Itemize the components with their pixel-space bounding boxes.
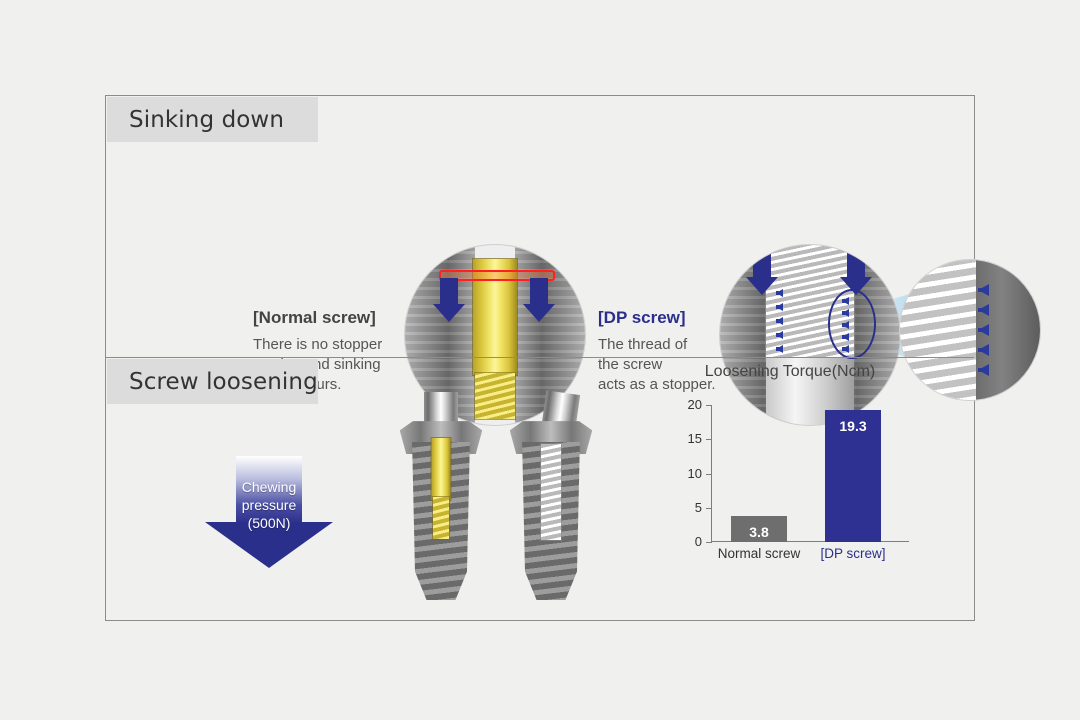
thread-force-micro-arrow [776,317,783,325]
chewing-pressure-label: Chewing pressure (500N) [205,478,333,532]
loosening-torque-chart: Loosening Torque(Ncm) 051015203.8Normal … [660,363,920,608]
chart-y-tick [706,542,712,543]
normal-screw-label: [Normal screw] [253,308,413,328]
chart-y-tick [706,508,712,509]
chart-bar: 3.8 [731,516,787,542]
pressure-arrow-right [840,251,872,295]
thread-force-micro-arrow [978,344,989,356]
thread-force-micro-arrow [776,331,783,339]
arrow-head [433,304,465,322]
chart-y-tick-label: 5 [676,500,702,515]
thread-force-micro-arrow [842,297,849,305]
section-header-sinking-down: Sinking down [107,97,318,142]
chart-y-tick-label: 10 [676,466,702,481]
dp-screw-implant-photo [508,392,594,600]
arrow-shaft [753,251,771,277]
dp-screw-thread-magnified-figure [899,259,1041,401]
pressure-arrow-left [433,278,465,322]
thread-force-micro-arrow [978,324,989,336]
arrow-shaft [440,278,458,304]
thread-force-micro-arrow [776,345,783,353]
thread-force-micro-arrow [842,321,849,329]
thread-force-micro-arrow [978,364,989,376]
chart-y-tick-label: 20 [676,397,702,412]
chart-y-tick [706,474,712,475]
gold-screw-shaft [432,438,451,500]
chewing-pressure-arrow: Chewing pressure (500N) [205,456,333,568]
pressure-arrow-right [523,278,555,322]
thread-force-micro-arrow [842,309,849,317]
section-divider [106,357,974,358]
thread-force-micro-arrow [776,289,783,297]
arrow-shaft [530,278,548,304]
section-header-screw-loosening: Screw loosening [107,359,318,404]
chart-y-tick [706,439,712,440]
chart-title: Loosening Torque(Ncm) [660,363,920,381]
arrow-head [523,304,555,322]
thread-force-micro-arrow [978,304,989,316]
chart-bar-value: 19.3 [825,418,881,434]
thread-force-micro-arrow [842,333,849,341]
chart-y-tick [706,405,712,406]
pressure-arrow-left [746,251,778,295]
section-title-screw-loosening: Screw loosening [129,369,318,395]
chart-x-category-label: [DP screw] [793,546,913,561]
chart-bar-value: 3.8 [731,524,787,540]
section-title-sinking-down: Sinking down [129,107,284,133]
thread-force-micro-arrow [978,284,989,296]
chart-y-tick-label: 15 [676,431,702,446]
normal-screw-implant-photo [398,392,484,600]
thread-force-micro-arrow [776,303,783,311]
screenshot-root: Sinking down [Normal screw] There is no … [0,0,1080,720]
dp-screw-thread [541,444,561,540]
gold-screw-thread [433,497,449,539]
arrow-shaft [847,251,865,277]
arrow-head [746,277,778,295]
zoom-region-ellipse [828,289,876,359]
chart-bar: 19.3 [825,410,881,542]
thread-force-micro-arrow [842,345,849,353]
